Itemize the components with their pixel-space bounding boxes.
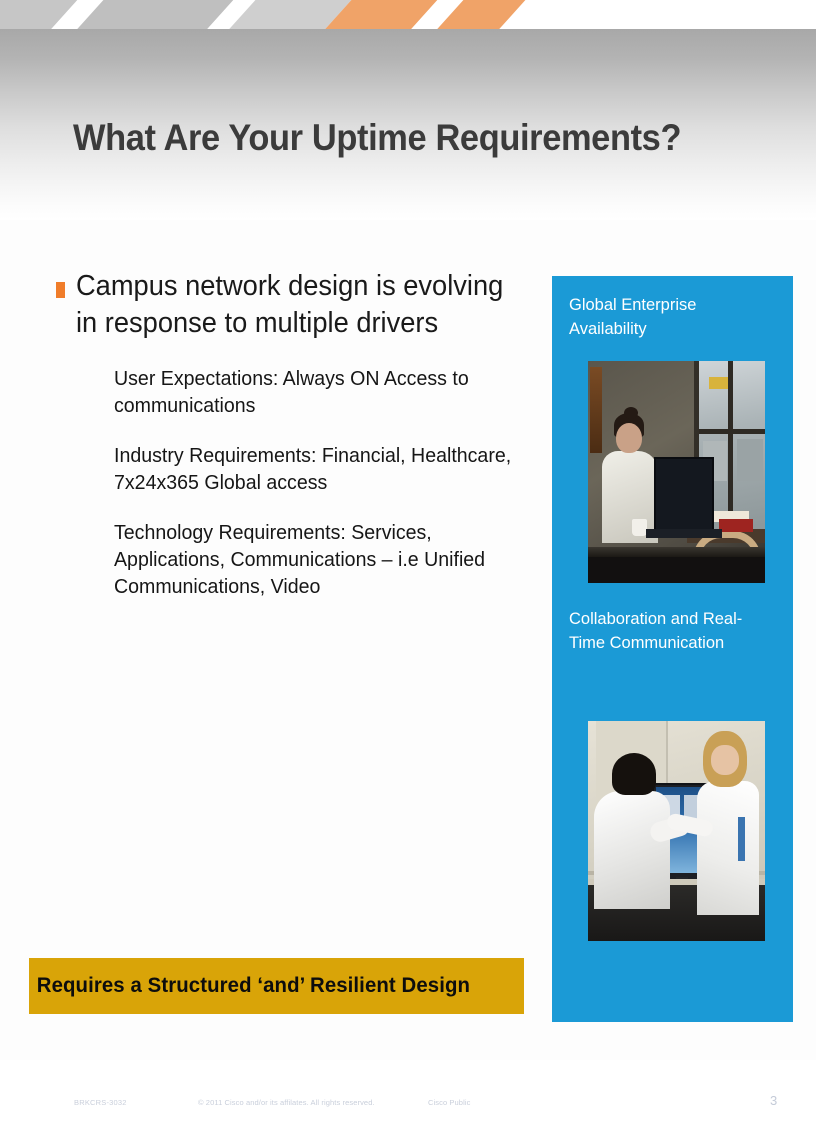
panel-caption-collaboration-real-time-communication: Collaboration and Real-Time Communicatio…	[569, 607, 768, 655]
list-item-lead: Campus network design is evolving in res…	[56, 268, 536, 341]
sub-bullet-list: User Expectations: Always ON Access to c…	[56, 365, 536, 600]
decorative-stripe-band	[0, 0, 816, 29]
square-bullet-icon	[56, 282, 65, 298]
bullet-list: Campus network design is evolving in res…	[56, 268, 536, 623]
list-item-industry-requirements: Industry Requirements: Financial, Health…	[114, 442, 533, 496]
footer-copyright: © 2011 Cisco and/or its affilates. All r…	[198, 1098, 375, 1107]
page-title: What Are Your Uptime Requirements?	[73, 118, 724, 159]
footer-page-number: 3	[770, 1093, 777, 1108]
footer-session-code: BRKCRS-3032	[74, 1098, 127, 1107]
callout-banner-text: Requires a Structured ‘and’ Resilient De…	[29, 974, 470, 998]
lead-bullet-text: Campus network design is evolving in res…	[76, 268, 508, 341]
panel-caption-global-enterprise-availability: Global Enterprise Availability	[569, 293, 768, 341]
list-item-technology-requirements: Technology Requirements: Services, Appli…	[114, 519, 533, 600]
slide: What Are Your Uptime Requirements? Campu…	[0, 0, 816, 1123]
slide-footer: BRKCRS-3032 © 2011 Cisco and/or its affi…	[0, 1085, 816, 1123]
photo-clinicians-reviewing-scans	[588, 721, 765, 941]
footer-classification: Cisco Public	[428, 1098, 470, 1107]
photo-woman-at-laptop-by-window	[588, 361, 765, 583]
side-image-panel: Global Enterprise Availability	[552, 276, 793, 1022]
list-item-user-expectations: User Expectations: Always ON Access to c…	[114, 365, 533, 419]
callout-banner: Requires a Structured ‘and’ Resilient De…	[29, 958, 524, 1014]
